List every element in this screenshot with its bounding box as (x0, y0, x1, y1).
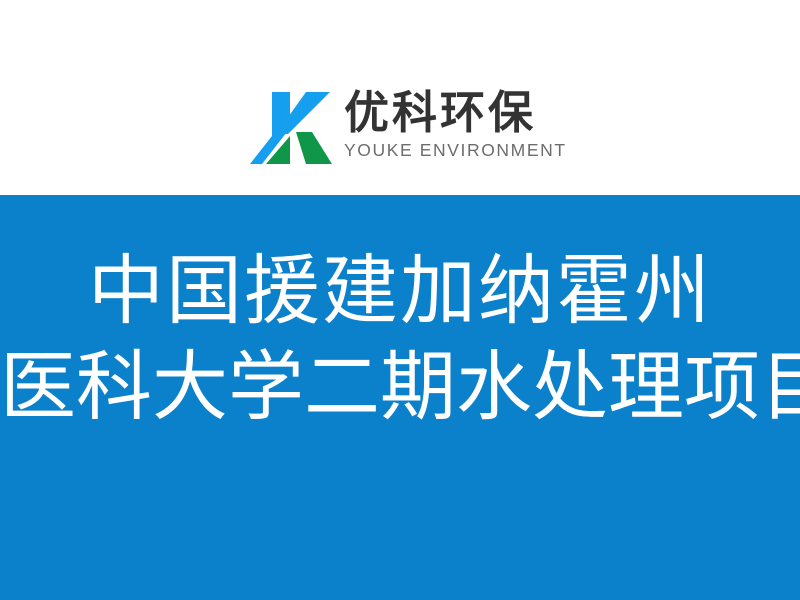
youke-k-monogram-icon (250, 88, 332, 168)
project-title-line-1: 中国援建加纳霍州 (0, 243, 800, 339)
title-banner: 中国援建加纳霍州 医科大学二期水处理项目 (0, 195, 800, 600)
company-name-en: YOUKE ENVIRONMENT (344, 140, 567, 160)
company-name-cn: 优科环保 (344, 88, 567, 138)
company-logo[interactable]: 优科环保 YOUKE ENVIRONMENT (250, 88, 570, 170)
logo-wordmark: 优科环保 YOUKE ENVIRONMENT (344, 88, 567, 160)
project-title-line-2: 医科大学二期水处理项目 (0, 339, 800, 435)
presentation-slide: 优科环保 YOUKE ENVIRONMENT 中国援建加纳霍州 医科大学二期水处… (0, 0, 800, 600)
project-title: 中国援建加纳霍州 医科大学二期水处理项目 (0, 243, 800, 435)
slide-header: 优科环保 YOUKE ENVIRONMENT (0, 0, 800, 195)
